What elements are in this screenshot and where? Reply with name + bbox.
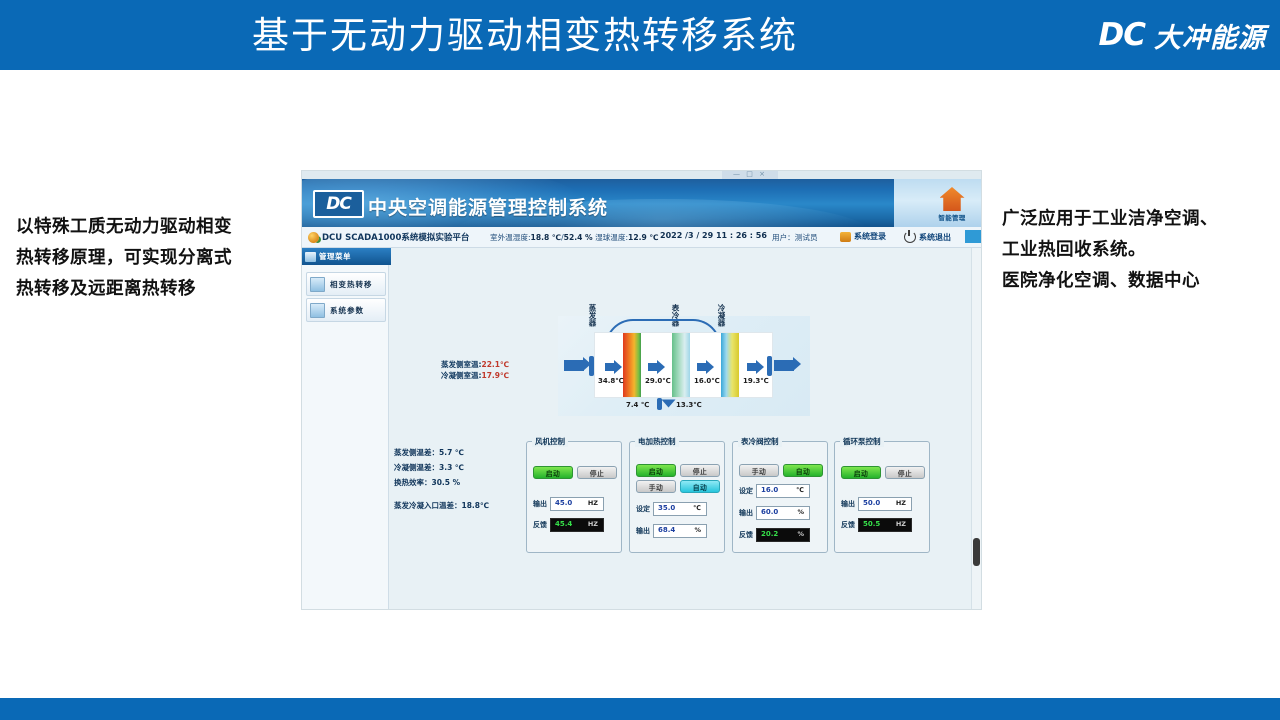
stat-label: 蒸发侧温差： (394, 448, 439, 457)
field-value: 16.0 (761, 486, 778, 494)
airflow-arrow-4 (747, 363, 757, 371)
control-group-title: 表冷阀控制 (738, 436, 782, 447)
stat-condenser-delta: 冷凝侧温差：3.3 ℃ (394, 460, 524, 475)
fan-stop-button[interactable]: 停止 (577, 466, 617, 479)
left-caption-line-1: 以特殊工质无动力驱动相变 (16, 212, 296, 243)
bottom-temp-2: 13.3℃ (676, 401, 702, 409)
pump-output-field: 输出 50.0 HZ (841, 497, 912, 511)
outdoor-humidity: 52.4 % (564, 233, 593, 242)
surface-cooler-coil (672, 333, 690, 397)
field-box[interactable]: 50.0 HZ (858, 497, 912, 511)
outdoor-condition: 室外温湿度:18.8 ℃/52.4 % 湿球温度:12.9 ℃ (490, 232, 659, 243)
pump-feedback-field: 反馈 50.5 HZ (841, 518, 912, 532)
field-box-readonly: 45.4 HZ (550, 518, 604, 532)
stats-spacer (394, 490, 524, 498)
airflow-arrow-2 (648, 363, 658, 371)
air-temp-3: 16.0℃ (694, 377, 720, 385)
heater-auto-button[interactable]: 自动 (680, 480, 720, 493)
sidebar-item-label: 相变热转移 (330, 279, 373, 290)
login-button[interactable]: 系统登录 (840, 231, 886, 242)
power-icon (904, 231, 916, 243)
fan-feedback-field: 反馈 45.4 HZ (533, 518, 604, 532)
scada-screenshot: — □ × DC 中央空调能源管理控制系统 智能管理 末端优化 数据管理 能耗分… (302, 171, 981, 609)
field-unit: ℃ (693, 504, 701, 512)
nav-item-intelligent-management[interactable]: 智能管理 (916, 187, 981, 222)
stat-value: 5.7 ℃ (439, 448, 464, 457)
field-box[interactable]: 16.0 ℃ (756, 484, 810, 498)
window-controls[interactable]: — □ × (722, 171, 778, 179)
pump-start-button[interactable]: 启动 (841, 466, 881, 479)
sidebar-header-label: 管理菜单 (319, 251, 351, 262)
slide-footer-bar (0, 698, 1280, 720)
field-label: 输出 (739, 508, 753, 518)
brand-mark-text: DC (1099, 17, 1145, 53)
field-box-readonly: 20.2 % (756, 528, 810, 542)
condenser-room-value: 17.9℃ (482, 371, 510, 380)
heater-stop-button[interactable]: 停止 (680, 464, 720, 477)
current-user: 用户：测试员 (772, 232, 818, 243)
vertical-scrollbar[interactable] (971, 248, 981, 609)
scrollbar-thumb[interactable] (973, 538, 980, 566)
field-label: 输出 (841, 499, 855, 509)
field-label: 反馈 (739, 530, 753, 540)
datetime-display: 2022 /3 / 29 11 : 26 : 56 (660, 231, 767, 240)
sidebar-item-system-parameters[interactable]: 系统参数 (306, 298, 386, 322)
valve-feedback-field: 反馈 20.2 % (739, 528, 810, 542)
air-temp-2: 29.0℃ (645, 377, 671, 385)
field-value: 20.2 (761, 530, 778, 538)
pump-stop-button[interactable]: 停止 (885, 466, 925, 479)
field-label: 输出 (533, 499, 547, 509)
brand-logo: DC 大冲能源 (1099, 0, 1266, 70)
field-value: 50.0 (863, 499, 880, 507)
user-icon (840, 232, 851, 242)
valve-auto-button[interactable]: 自动 (783, 464, 823, 477)
app-logo-icon: DC (313, 190, 364, 218)
ahu-casing: 34.8℃ 29.0℃ 16.0℃ 19.3℃ (594, 332, 773, 398)
bottom-temp-1: 7.4 ℃ (626, 401, 649, 409)
menu-item-icon (310, 277, 325, 292)
evaporator-room-label: 蒸发侧室温: (441, 360, 482, 369)
stat-label: 冷凝侧温差： (394, 463, 439, 472)
coil-label-evaporator: 蒸发器 (587, 304, 598, 327)
heater-setpoint-field: 设定 35.0 ℃ (636, 502, 707, 516)
airflow-arrow-1 (605, 363, 615, 371)
airflow-arrow-3 (697, 363, 707, 371)
sidebar-item-label: 系统参数 (330, 305, 364, 316)
control-group-cooling-valve: 表冷阀控制 手动 自动 设定 16.0 ℃ 输出 60.0 % 反馈 20.2 … (732, 441, 828, 553)
control-group-circulation-pump: 循环泵控制 启动 停止 输出 50.0 HZ 反馈 50.5 HZ (834, 441, 930, 553)
brand-mark: DC (1099, 17, 1145, 53)
menu-item-icon (310, 303, 325, 318)
heater-start-button[interactable]: 启动 (636, 464, 676, 477)
evaporator-room-value: 22.1℃ (482, 360, 510, 369)
valve-manual-button[interactable]: 手动 (739, 464, 779, 477)
evaporator-coil (623, 333, 641, 397)
inlet-damper (589, 356, 594, 376)
field-value: 60.0 (761, 508, 778, 516)
menu-icon (305, 252, 316, 262)
control-group-electric-heating: 电加热控制 启动 停止 手动 自动 设定 35.0 ℃ 输出 68.4 % (629, 441, 725, 553)
left-caption-line-3: 热转移及远距离热转移 (16, 274, 296, 305)
right-caption-line-1: 广泛应用于工业洁净空调、 (1002, 204, 1274, 235)
performance-stats: 蒸发侧温差：5.7 ℃ 冷凝侧温差：3.3 ℃ 换热效率：30.5 % 蒸发冷凝… (394, 445, 524, 513)
field-unit: HZ (896, 520, 906, 528)
app-title: 中央空调能源管理控制系统 (368, 193, 608, 220)
field-unit: HZ (588, 499, 598, 507)
field-label: 反馈 (533, 520, 547, 530)
field-value: 50.5 (863, 520, 880, 528)
outlet-damper (767, 356, 772, 376)
stat-label: 蒸发冷凝入口温差： (394, 501, 462, 510)
stat-evaporator-delta: 蒸发侧温差：5.7 ℃ (394, 445, 524, 460)
field-value: 45.4 (555, 520, 572, 528)
valve-setpoint-field: 设定 16.0 ℃ (739, 484, 810, 498)
field-box-readonly: 50.5 HZ (858, 518, 912, 532)
exhaust-air-arrow (774, 360, 794, 371)
field-box[interactable]: 45.0 HZ (550, 497, 604, 511)
status-bar: DCU SCADA1000系统模拟实验平台 室外温湿度:18.8 ℃/52.4 … (302, 227, 981, 248)
valve-output-field: 输出 60.0 % (739, 506, 810, 520)
right-caption-line-3: 医院净化空调、数据中心 (1002, 266, 1274, 297)
condenser-coil (721, 333, 739, 397)
app-banner: DC 中央空调能源管理控制系统 (302, 179, 981, 227)
field-unit: % (797, 530, 804, 538)
window-top-strip: — □ × (302, 171, 981, 179)
stat-inlet-delta: 蒸发冷凝入口温差：18.8℃ (394, 498, 524, 513)
logout-button[interactable]: 系统退出 (904, 231, 951, 243)
wetbulb-label: 湿球温度: (595, 233, 628, 242)
left-caption-line-2: 热转移原理，可实现分离式 (16, 243, 296, 274)
air-temp-1: 34.8℃ (598, 377, 624, 385)
evaporator-room-temp: 蒸发侧室温:22.1℃ (441, 359, 561, 370)
outdoor-label: 室外温湿度: (490, 233, 531, 242)
field-label: 反馈 (841, 520, 855, 530)
brand-name: 大冲能源 (1154, 16, 1266, 55)
sidebar-header: 管理菜单 (302, 248, 391, 265)
field-unit: % (694, 526, 701, 534)
sidebar-item-phase-change-heat-transfer[interactable]: 相变热转移 (306, 272, 386, 296)
room-temperature-readouts: 蒸发侧室温:22.1℃ 冷凝侧室温:17.9℃ (441, 359, 561, 381)
stat-heat-exchange-efficiency: 换热效率：30.5 % (394, 475, 524, 490)
wetbulb-value: 12.9 ℃ (628, 233, 659, 242)
field-unit: HZ (588, 520, 598, 528)
logout-label: 系统退出 (919, 232, 951, 243)
left-caption: 以特殊工质无动力驱动相变 热转移原理，可实现分离式 热转移及远距离热转移 (16, 212, 296, 305)
home-icon (940, 187, 965, 211)
platform-title: DCU SCADA1000系统模拟实验平台 (322, 231, 469, 243)
field-box[interactable]: 35.0 ℃ (653, 502, 707, 516)
status-indicator (965, 230, 981, 243)
air-temp-4: 19.3℃ (743, 377, 769, 385)
fan-output-field: 输出 45.0 HZ (533, 497, 604, 511)
field-value: 35.0 (658, 504, 675, 512)
supply-air-arrow (564, 360, 584, 371)
coil-label-condenser: 冷凝器 (716, 304, 727, 327)
control-group-title: 风机控制 (532, 436, 568, 447)
page-title: 基于无动力驱动相变热转移系统 (0, 0, 1050, 70)
condenser-room-label: 冷凝侧室温: (441, 371, 482, 380)
condenser-room-temp: 冷凝侧室温:17.9℃ (441, 370, 561, 381)
sidebar-menu: 管理菜单 相变热转移 系统参数 (302, 248, 389, 609)
field-value: 68.4 (658, 526, 675, 534)
heater-manual-button[interactable]: 手动 (636, 480, 676, 493)
field-label: 设定 (636, 504, 650, 514)
app-status-icon (308, 232, 319, 243)
field-unit: ℃ (796, 486, 804, 494)
app-logo-text: DC (326, 196, 351, 213)
field-box[interactable]: 60.0 % (756, 506, 810, 520)
control-group-title: 循环泵控制 (840, 436, 884, 447)
system-diagram: 蒸发器 表冷器 冷凝器 34.8℃ 29.0℃ 16.0℃ 19.3℃ 7.4 … (558, 316, 810, 416)
field-value: 45.0 (555, 499, 572, 507)
fan-start-button[interactable]: 启动 (533, 466, 573, 479)
stat-value: 30.5 % (432, 478, 461, 487)
field-label: 输出 (636, 526, 650, 536)
field-unit: % (797, 508, 804, 516)
slide-header-bar: 基于无动力驱动相变热转移系统 DC 大冲能源 (0, 0, 1280, 70)
control-group-title: 电加热控制 (635, 436, 679, 447)
stat-value: 18.8℃ (462, 501, 490, 510)
control-group-fan: 风机控制 启动 停止 输出 45.0 HZ 反馈 45.4 HZ (526, 441, 622, 553)
right-caption: 广泛应用于工业洁净空调、 工业热回收系统。 医院净化空调、数据中心 (1002, 204, 1274, 297)
stat-label: 换热效率： (394, 478, 432, 487)
stat-value: 3.3 ℃ (439, 463, 464, 472)
login-label: 系统登录 (854, 231, 886, 242)
nav-label: 智能管理 (916, 212, 981, 222)
right-caption-line-2: 工业热回收系统。 (1002, 235, 1274, 266)
heater-output-field: 输出 68.4 % (636, 524, 707, 538)
field-label: 设定 (739, 486, 753, 496)
field-unit: HZ (896, 499, 906, 507)
field-box[interactable]: 68.4 % (653, 524, 707, 538)
outdoor-temp: 18.8 ℃ (531, 233, 562, 242)
